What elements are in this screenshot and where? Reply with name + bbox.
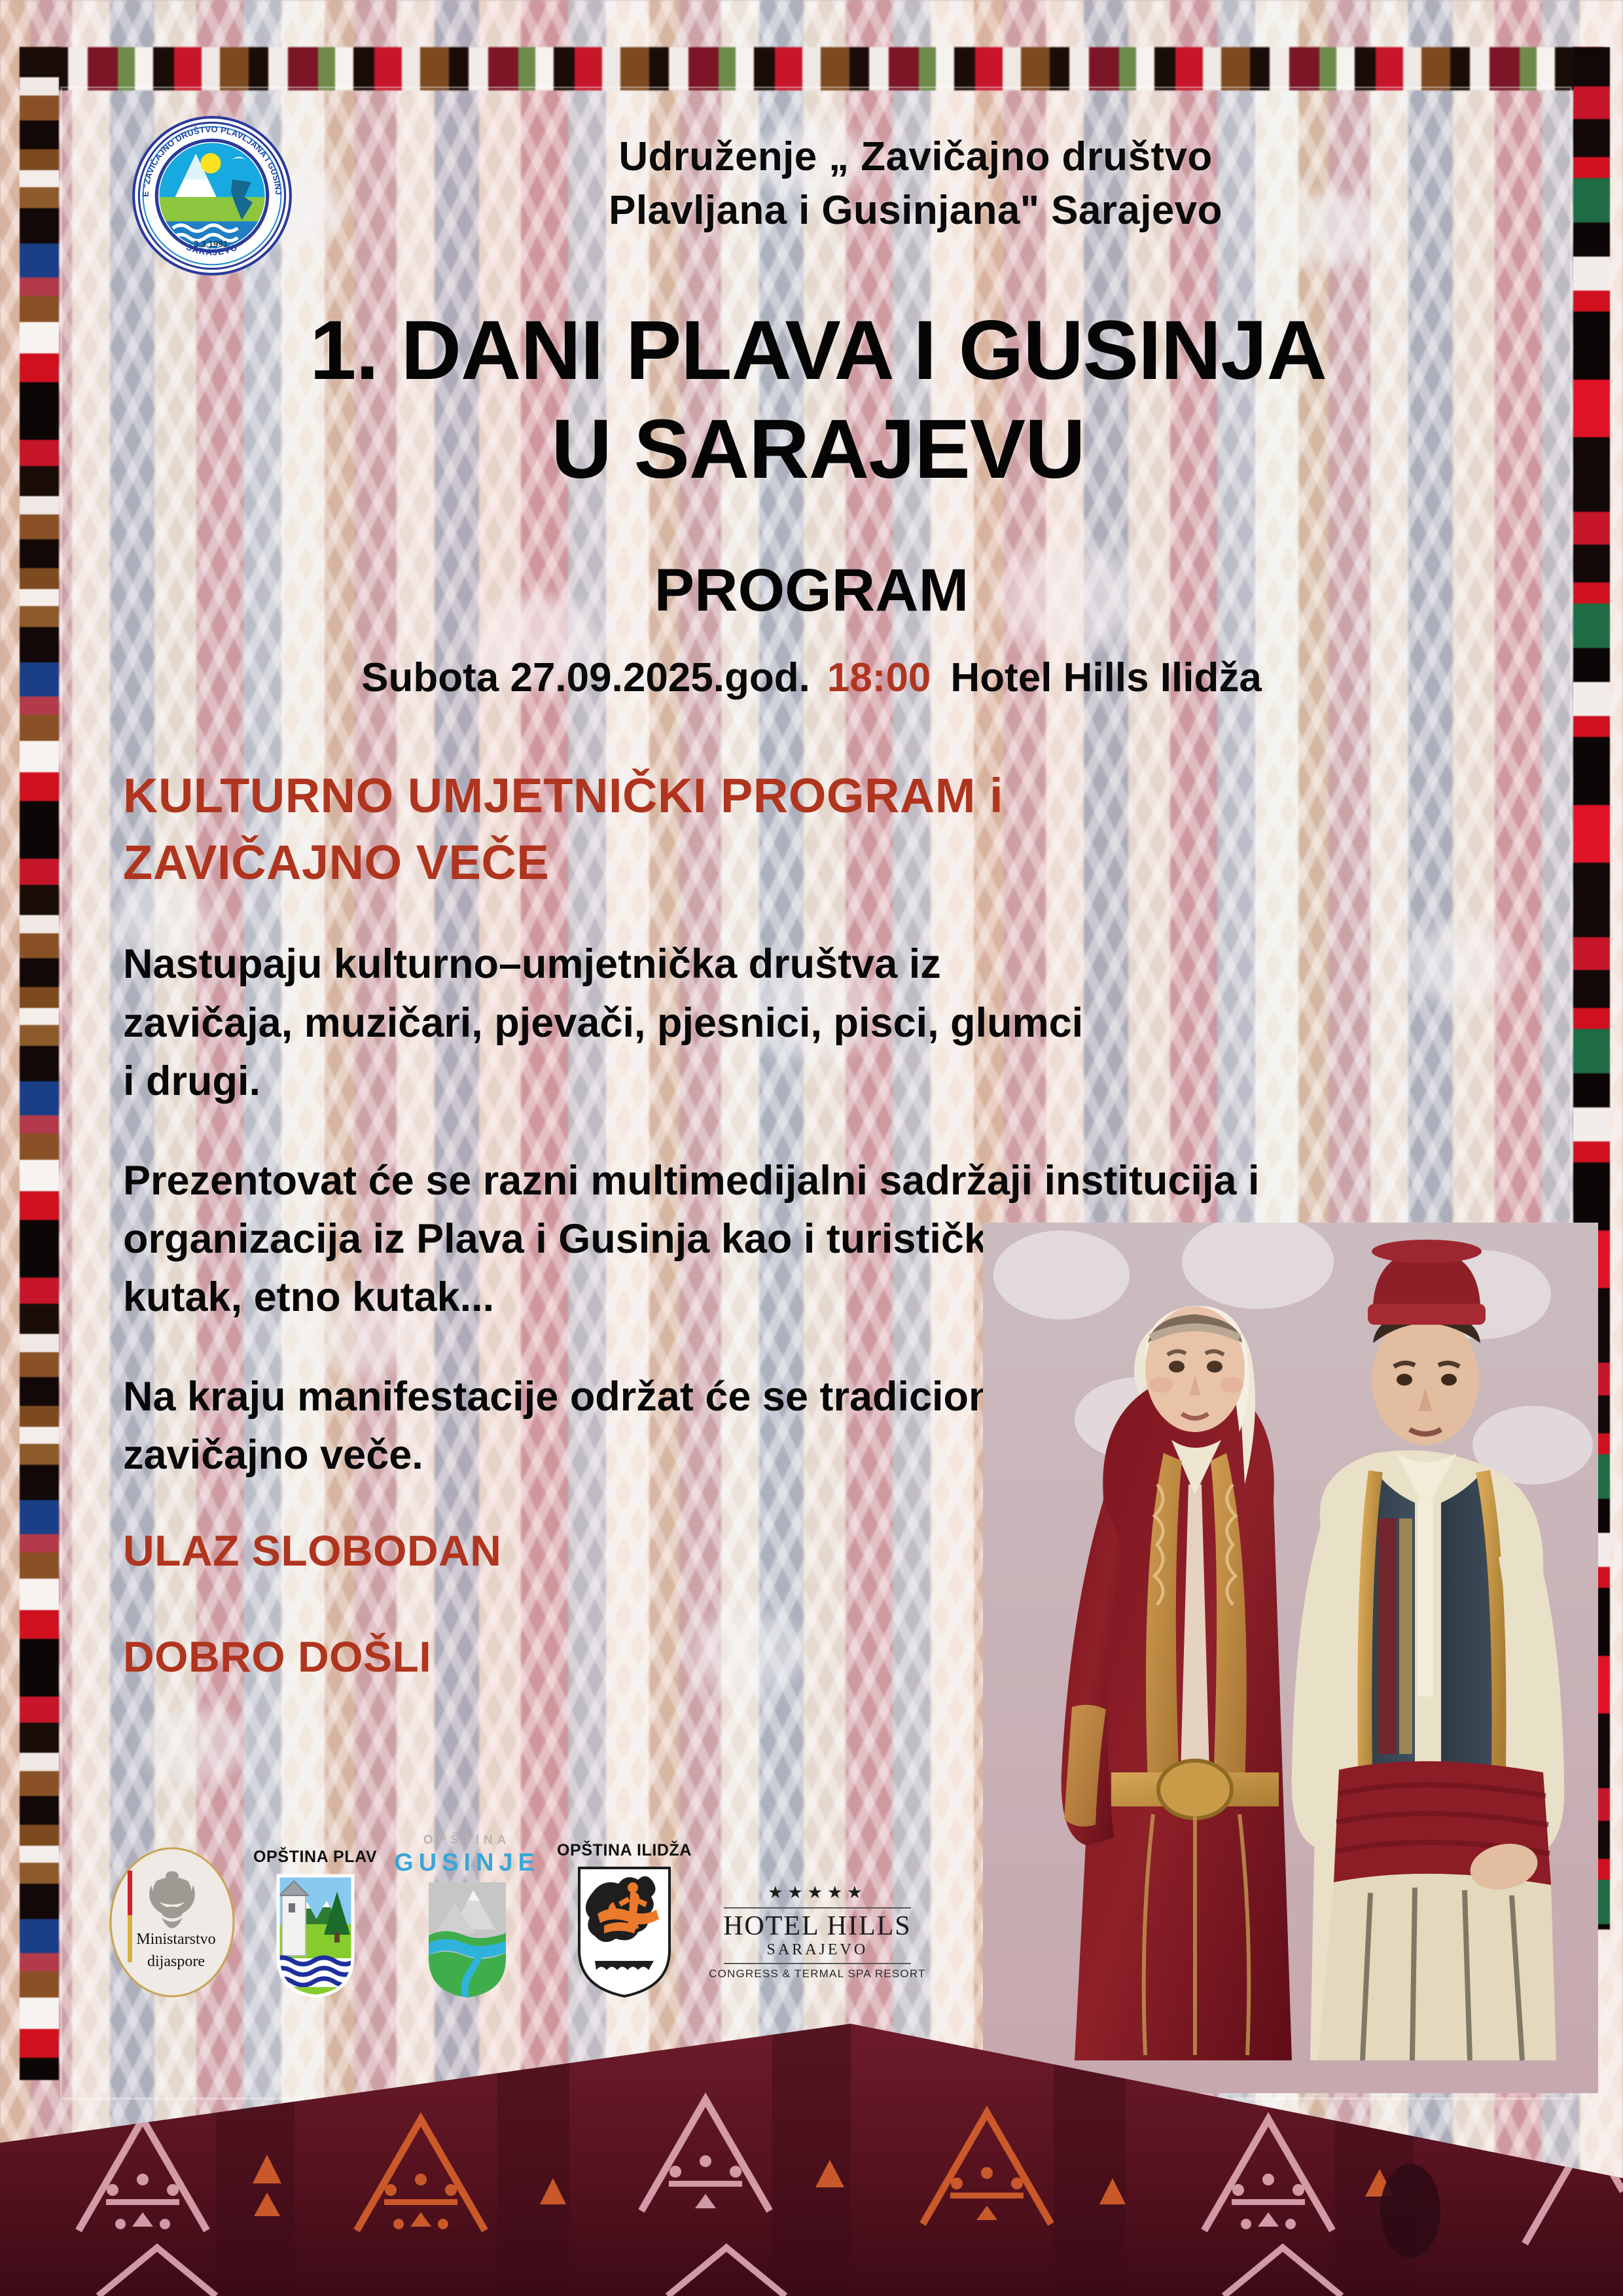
frame-strip-left [20,47,59,2080]
event-datetime-venue: Subota 27.09.2025.god.18:00Hotel Hills I… [0,655,1623,701]
event-title: 1. DANI PLAVA I GUSINJA U SARAJEVU [92,301,1544,499]
hotel-hills-title: HOTEL HILLS [723,1912,912,1940]
gusinje-wordmark-large: GUSINJE [394,1849,540,1877]
program-label: PROGRAM [0,556,1623,625]
traditional-costume-couple-photo [983,1223,1598,2093]
section-heading-line2: ZAVIČAJNO VEČE [123,829,1517,896]
poster-header: UDRUŽENJE "ZAVIČAJNO DRUŠTVO PLAVLJANA I… [131,115,1512,277]
hotel-hills-tagline: CONGRESS & TERMAL SPA RESORT [709,1967,926,1981]
organization-title-line1: Udruženje „ Zavičajno društvo [319,130,1512,184]
event-poster: UDRUŽENJE "ZAVIČAJNO DRUŠTVO PLAVLJANA I… [0,0,1623,2296]
event-date: Subota 27.09.2025.god. [361,655,810,700]
paragraph-closing: Na kraju manifestacije održat će se trad… [123,1368,1105,1485]
hotel-hills-rule-top [724,1907,911,1909]
event-time: 18:00 [827,655,931,700]
section-heading-line1: KULTURNO UMJETNIČKI PROGRAM i [123,762,1517,829]
sponsor-logo-row: Ministarstvo dijaspore OPŠTINA PLAV [108,1833,926,2000]
hotel-hills-stars: ★★★★★ [768,1882,867,1903]
sponsor-opstina-gusinje: OPŠTINA GUSINJE [394,1833,540,2000]
ministarstvo-line1: Ministarstvo [136,1931,215,1948]
organization-title-line2: Plavljana i Gusinjana" Sarajevo [319,184,1512,238]
ministarstvo-line2: dijaspore [147,1953,205,1970]
event-title-line1: 1. DANI PLAVA I GUSINJA [92,301,1544,400]
sponsor-hotel-hills: ★★★★★ HOTEL HILLS SARAJEVO CONGRESS & TE… [709,1882,926,2000]
bottom-kilim-carpet [0,2015,1623,2296]
organization-title: Udruženje „ Zavičajno društvo Plavljana … [319,115,1512,238]
sponsor-opstina-ilidza: OPŠTINA ILIDŽA [557,1841,692,2000]
hotel-hills-subtitle: SARAJEVO [767,1941,868,1959]
sponsor-opstina-plav: OPŠTINA PLAV [253,1848,377,2000]
event-title-line2: U SARAJEVU [92,400,1544,499]
opstina-ilidza-caption: OPŠTINA ILIDŽA [557,1841,692,1860]
frame-strip-top [20,47,1610,90]
hotel-hills-rule-bottom [724,1963,911,1964]
section-heading: KULTURNO UMJETNIČKI PROGRAM i ZAVIČAJNO … [123,762,1517,896]
svg-text:3.3.1991.: 3.3.1991. [194,240,230,249]
event-venue: Hotel Hills Ilidža [950,655,1261,700]
paragraph-performers: Nastupaju kulturno–umjetnička društva iz… [123,935,1105,1111]
association-seal-logo: UDRUŽENJE "ZAVIČAJNO DRUŠTVO PLAVLJANA I… [131,115,293,277]
gusinje-wordmark-small: OPŠTINA [423,1833,510,1848]
sponsor-ministarstvo-dijaspore: Ministarstvo dijaspore [108,1844,236,2000]
opstina-plav-caption: OPŠTINA PLAV [253,1848,377,1867]
